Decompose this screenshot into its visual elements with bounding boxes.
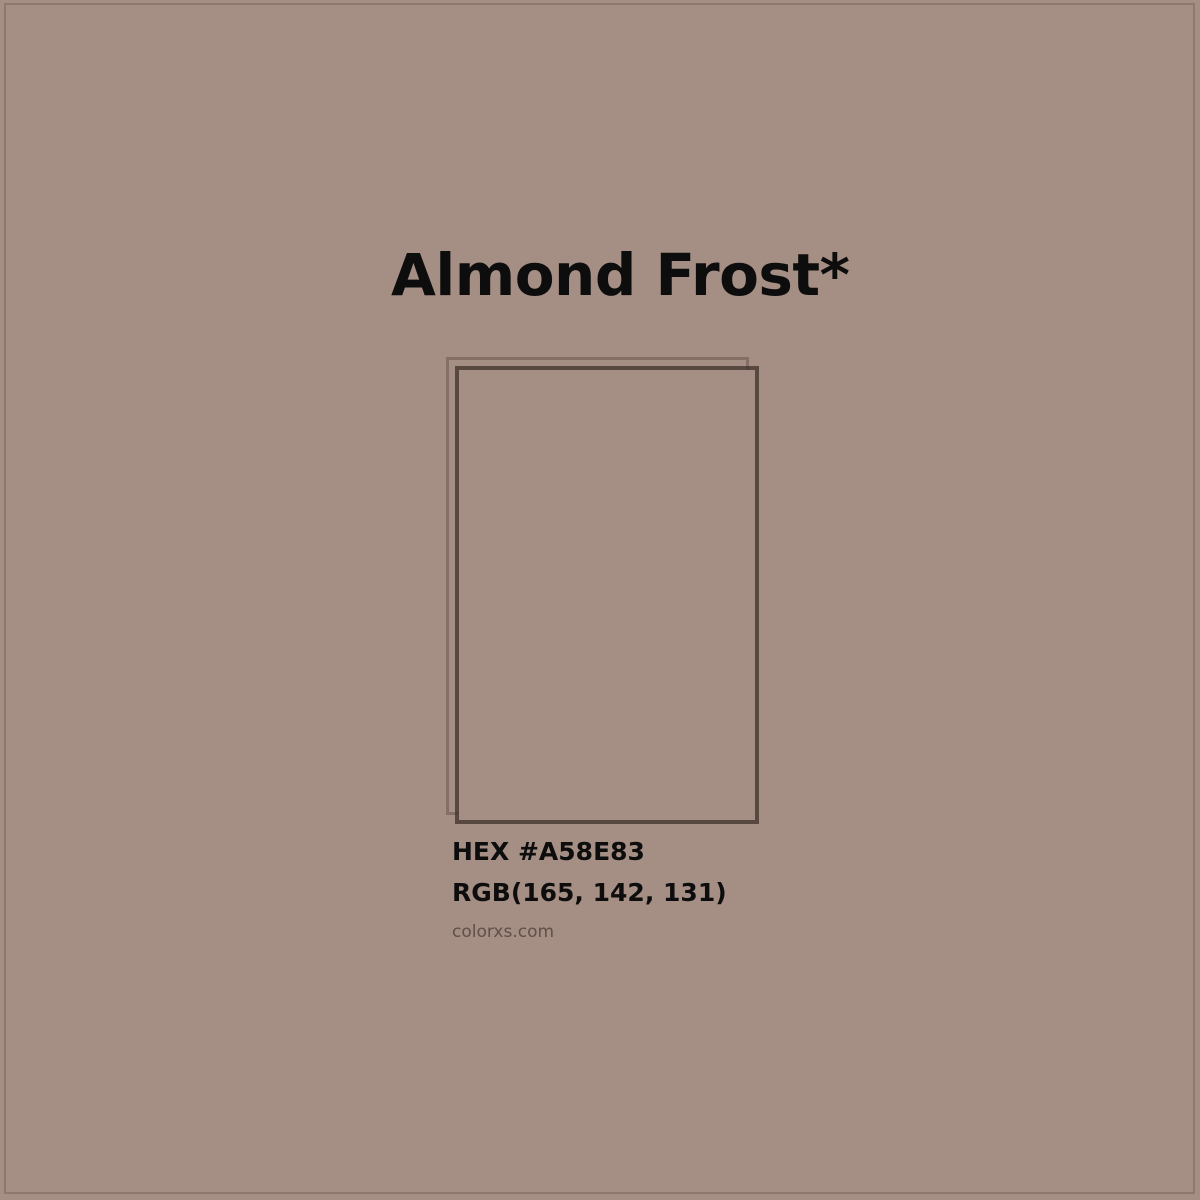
color-swatch-card: Almond Frost* HEX #A58E83 RGB(165, 142, … [0, 0, 1200, 1200]
color-swatch-frame [446, 357, 760, 824]
color-name-title: Almond Frost* [391, 246, 850, 304]
color-value-block: HEX #A58E83 RGB(165, 142, 131) colorxs.c… [452, 832, 952, 943]
source-attribution-label: colorxs.com [452, 921, 952, 943]
hex-value-label: HEX #A58E83 [452, 832, 952, 872]
rgb-value-label: RGB(165, 142, 131) [452, 873, 952, 913]
swatch-color-fill [459, 370, 755, 820]
